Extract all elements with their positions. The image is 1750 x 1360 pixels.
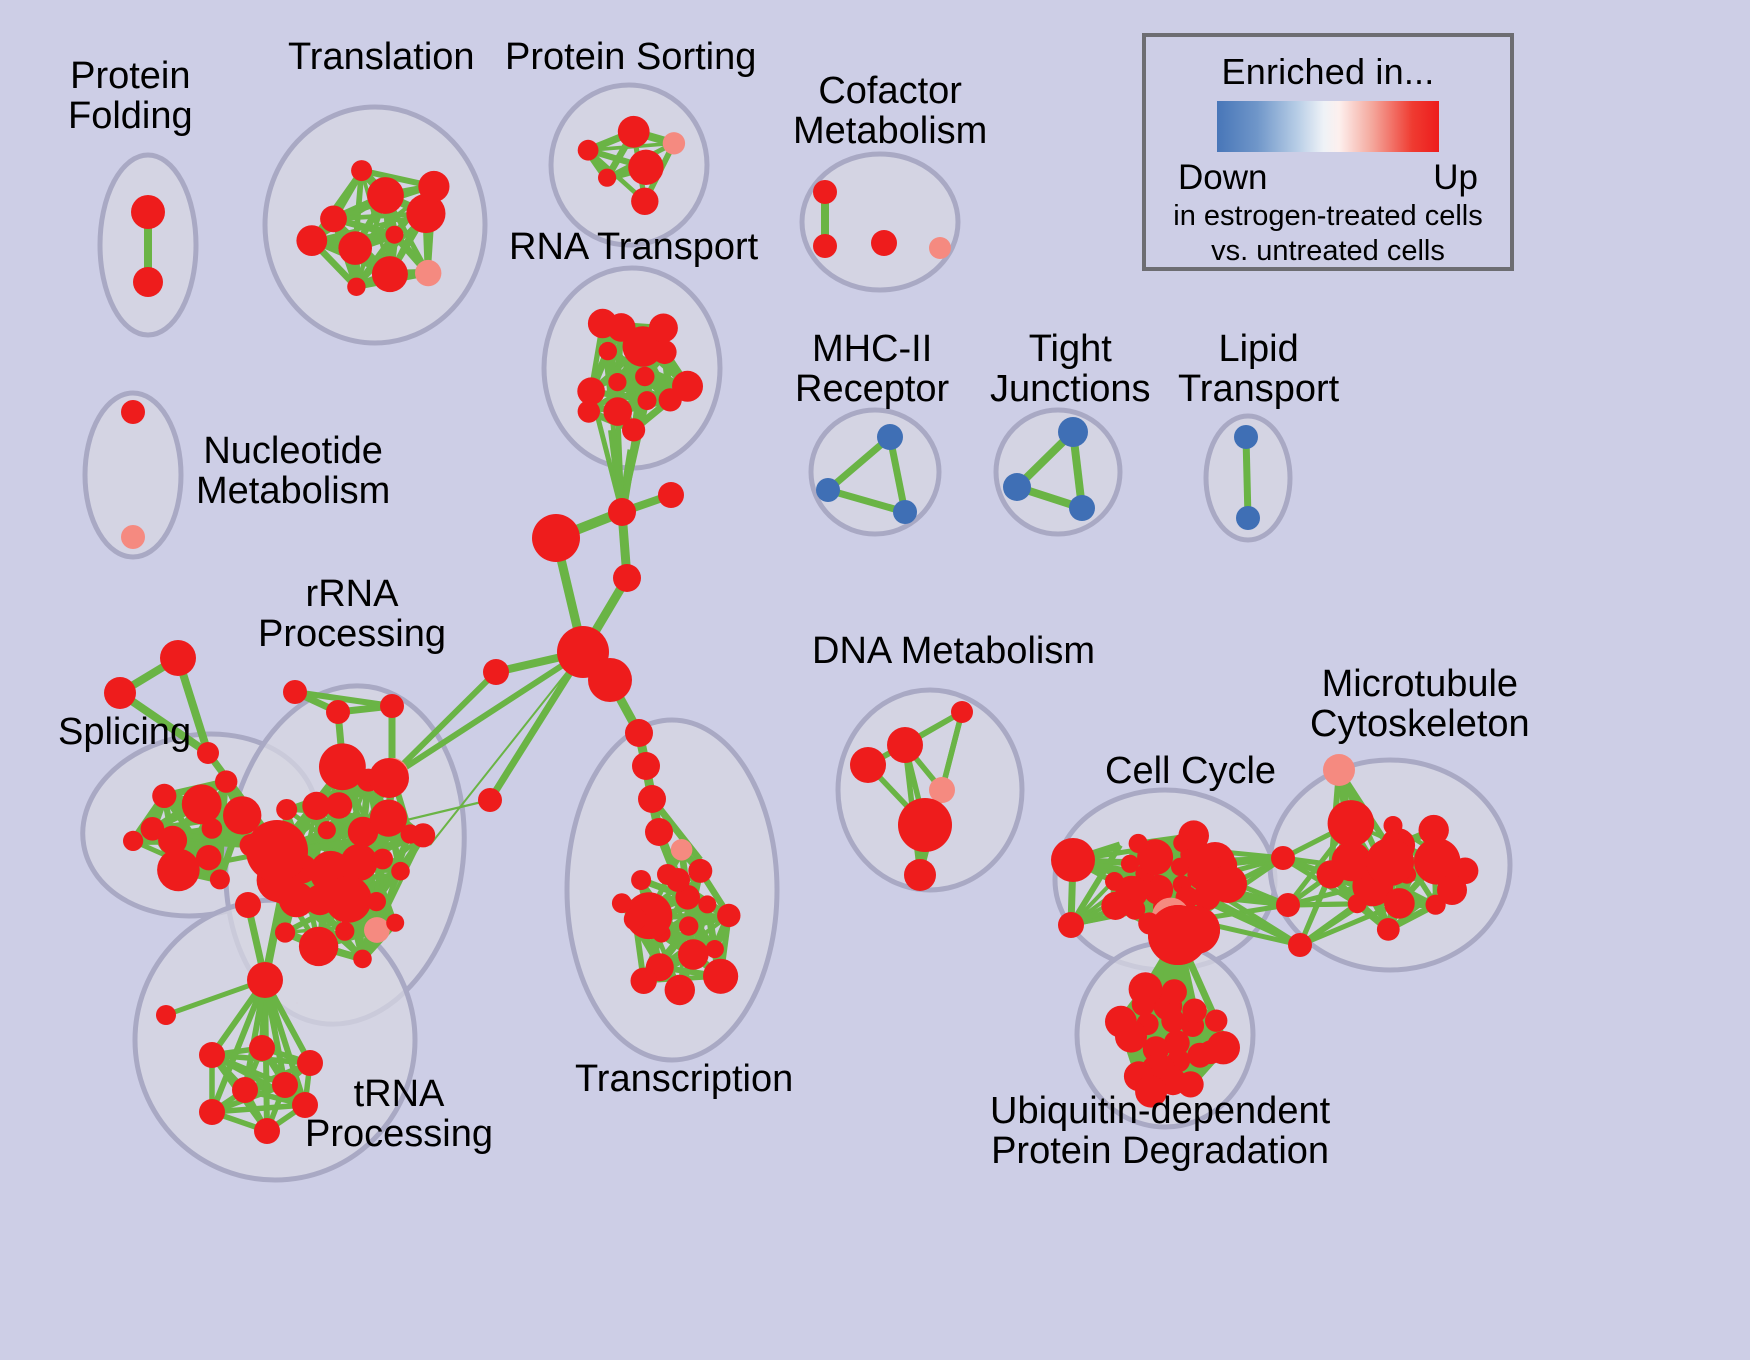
network-node (418, 171, 449, 202)
network-node (1276, 893, 1300, 917)
cluster-label-ubiquitin-protein-degradation: Ubiquitin-dependent Protein Degradation (990, 1092, 1330, 1171)
network-node (1437, 875, 1467, 905)
network-node (1288, 933, 1312, 957)
network-node (1003, 473, 1031, 501)
network-node (1209, 865, 1247, 903)
network-node (1129, 834, 1148, 853)
network-node (1121, 855, 1139, 873)
network-node (391, 862, 410, 881)
network-node (813, 180, 837, 204)
network-node (816, 478, 840, 502)
network-node (478, 788, 502, 812)
network-node (351, 160, 372, 181)
network-node (1377, 918, 1400, 941)
network-node (671, 839, 693, 861)
network-node (121, 400, 145, 424)
network-node (123, 831, 143, 851)
legend-down-label: Down (1178, 158, 1267, 198)
network-node (898, 798, 952, 852)
network-node (632, 752, 660, 780)
network-node (672, 371, 703, 402)
network-node (588, 309, 617, 338)
network-node (1172, 906, 1220, 954)
network-node (141, 817, 165, 841)
network-node (532, 514, 580, 562)
network-node (1105, 872, 1124, 891)
network-node (320, 206, 347, 233)
network-node (372, 849, 393, 870)
network-node (706, 940, 724, 958)
network-node (1271, 846, 1295, 870)
cluster-label-rrna-processing: rRNA Processing (258, 575, 446, 654)
network-node (1162, 979, 1187, 1004)
network-node (658, 482, 684, 508)
network-node (283, 680, 307, 704)
network-node (1182, 999, 1206, 1023)
network-node (302, 792, 330, 820)
cluster-ellipse-mhc-ii-receptor (811, 410, 939, 534)
network-node (599, 342, 617, 360)
network-node (367, 892, 386, 911)
network-edge (1246, 437, 1248, 518)
network-node (386, 226, 404, 244)
network-node (199, 1099, 225, 1125)
network-node (813, 234, 837, 258)
cluster-label-dna-metabolism: DNA Metabolism (812, 632, 1095, 672)
network-node (645, 818, 673, 846)
network-node (703, 959, 738, 994)
network-node (608, 498, 636, 526)
network-node (871, 230, 897, 256)
network-node (121, 525, 145, 549)
network-node (1207, 1031, 1240, 1064)
network-node (698, 895, 716, 913)
network-node (299, 927, 338, 966)
network-node (688, 859, 712, 883)
network-node (951, 701, 973, 723)
network-node (638, 391, 657, 410)
network-node (1384, 888, 1415, 919)
network-node (1058, 417, 1088, 447)
network-node (588, 658, 632, 702)
network-node (850, 747, 886, 783)
network-node (232, 1077, 258, 1103)
cluster-label-mhc-ii-receptor: MHC-II Receptor (795, 330, 949, 409)
network-node (369, 758, 409, 798)
network-node (1328, 800, 1375, 847)
network-node (631, 870, 651, 890)
network-node (199, 1042, 225, 1068)
network-node (1234, 425, 1258, 449)
network-node (1348, 894, 1367, 913)
network-node (296, 225, 327, 256)
network-node (625, 719, 653, 747)
network-node (613, 564, 641, 592)
legend-endpoints: Down Up (1178, 158, 1478, 198)
cluster-label-protein-folding: Protein Folding (68, 57, 193, 136)
network-node (196, 845, 221, 870)
network-node (338, 231, 372, 265)
network-node (635, 367, 654, 386)
network-node (904, 859, 936, 891)
network-node (182, 784, 222, 824)
network-node (235, 892, 261, 918)
network-node (347, 278, 365, 296)
network-node (411, 823, 435, 847)
network-node (254, 1118, 280, 1144)
network-node (1129, 972, 1163, 1006)
network-node (631, 188, 658, 215)
cluster-label-cell-cycle: Cell Cycle (1105, 752, 1276, 792)
enrichment-map-figure: Protein FoldingTranslationProtein Sortin… (0, 0, 1750, 1360)
network-node (929, 237, 951, 259)
network-node (152, 784, 176, 808)
cluster-ellipse-tight-junctions (996, 410, 1120, 534)
cluster-label-nucleotide-metabolism: Nucleotide Metabolism (196, 432, 390, 511)
legend-caption-line1: in estrogen-treated cells (1173, 200, 1483, 232)
network-node (335, 922, 354, 941)
network-node (1419, 815, 1449, 845)
network-node (1366, 838, 1414, 886)
network-node (679, 916, 698, 935)
network-node (1205, 1010, 1227, 1032)
network-node (380, 694, 404, 718)
network-node (929, 777, 955, 803)
network-node (483, 659, 509, 685)
network-node (877, 424, 903, 450)
network-node (1384, 816, 1403, 835)
network-node (367, 177, 404, 214)
network-node (415, 260, 441, 286)
network-node (717, 904, 740, 927)
network-node (210, 869, 230, 889)
network-node (1323, 754, 1355, 786)
network-node (631, 968, 657, 994)
network-node (386, 914, 404, 932)
network-node (1236, 506, 1260, 530)
network-node (156, 1005, 176, 1025)
network-node (1051, 838, 1095, 882)
network-node (1069, 495, 1095, 521)
network-node (1317, 860, 1345, 888)
network-node (276, 799, 297, 820)
legend-title: Enriched in... (1222, 51, 1435, 93)
network-node (249, 1035, 275, 1061)
network-node (622, 418, 645, 441)
network-node (157, 849, 200, 892)
network-node (666, 868, 690, 892)
network-node (215, 770, 237, 792)
legend-up-label: Up (1433, 158, 1478, 198)
network-node (326, 700, 350, 724)
network-node (318, 821, 336, 839)
network-node (663, 132, 685, 154)
network-node (612, 893, 632, 913)
cluster-label-protein-sorting: Protein Sorting (505, 38, 756, 78)
cluster-label-splicing: Splicing (58, 713, 191, 753)
network-node (1101, 892, 1129, 920)
network-node (197, 742, 219, 764)
network-node (628, 150, 663, 185)
network-node (893, 500, 917, 524)
legend-box: Enriched in... Down Up in estrogen-treat… (1142, 33, 1514, 271)
network-node (372, 256, 408, 292)
network-node (678, 939, 709, 970)
network-node (247, 962, 283, 998)
network-node (133, 267, 163, 297)
network-node (1105, 1006, 1137, 1038)
network-node (653, 340, 677, 364)
network-node (319, 743, 366, 790)
network-node (578, 400, 600, 422)
cluster-label-cofactor-metabolism: Cofactor Metabolism (793, 72, 987, 151)
network-node (246, 820, 308, 882)
cluster-label-translation: Translation (288, 38, 475, 78)
network-node (131, 195, 165, 229)
network-node (618, 116, 650, 148)
cluster-label-tight-junctions: Tight Junctions (990, 330, 1151, 409)
network-node (104, 677, 136, 709)
network-node (665, 975, 695, 1005)
cluster-label-lipid-transport: Lipid Transport (1178, 330, 1339, 409)
network-node (269, 876, 297, 904)
network-node (598, 169, 616, 187)
network-node (1058, 912, 1084, 938)
network-node (272, 1072, 298, 1098)
network-node (578, 140, 599, 161)
legend-caption-line2: vs. untreated cells (1211, 235, 1445, 267)
network-node (638, 785, 666, 813)
cluster-label-microtubule-cytoskeleton: Microtubule Cytoskeleton (1310, 665, 1530, 744)
network-edge (430, 652, 583, 845)
cluster-label-trna-processing: tRNA Processing (305, 1075, 493, 1154)
network-node (353, 950, 372, 969)
color-ramp (1217, 101, 1439, 152)
network-node (649, 314, 678, 343)
network-node (887, 727, 923, 763)
network-node (364, 917, 390, 943)
network-node (297, 1050, 323, 1076)
network-node (160, 640, 196, 676)
cluster-label-transcription: Transcription (575, 1060, 793, 1100)
network-node (608, 373, 626, 391)
network-node (275, 922, 295, 942)
cluster-label-rna-transport: RNA Transport (509, 228, 758, 268)
